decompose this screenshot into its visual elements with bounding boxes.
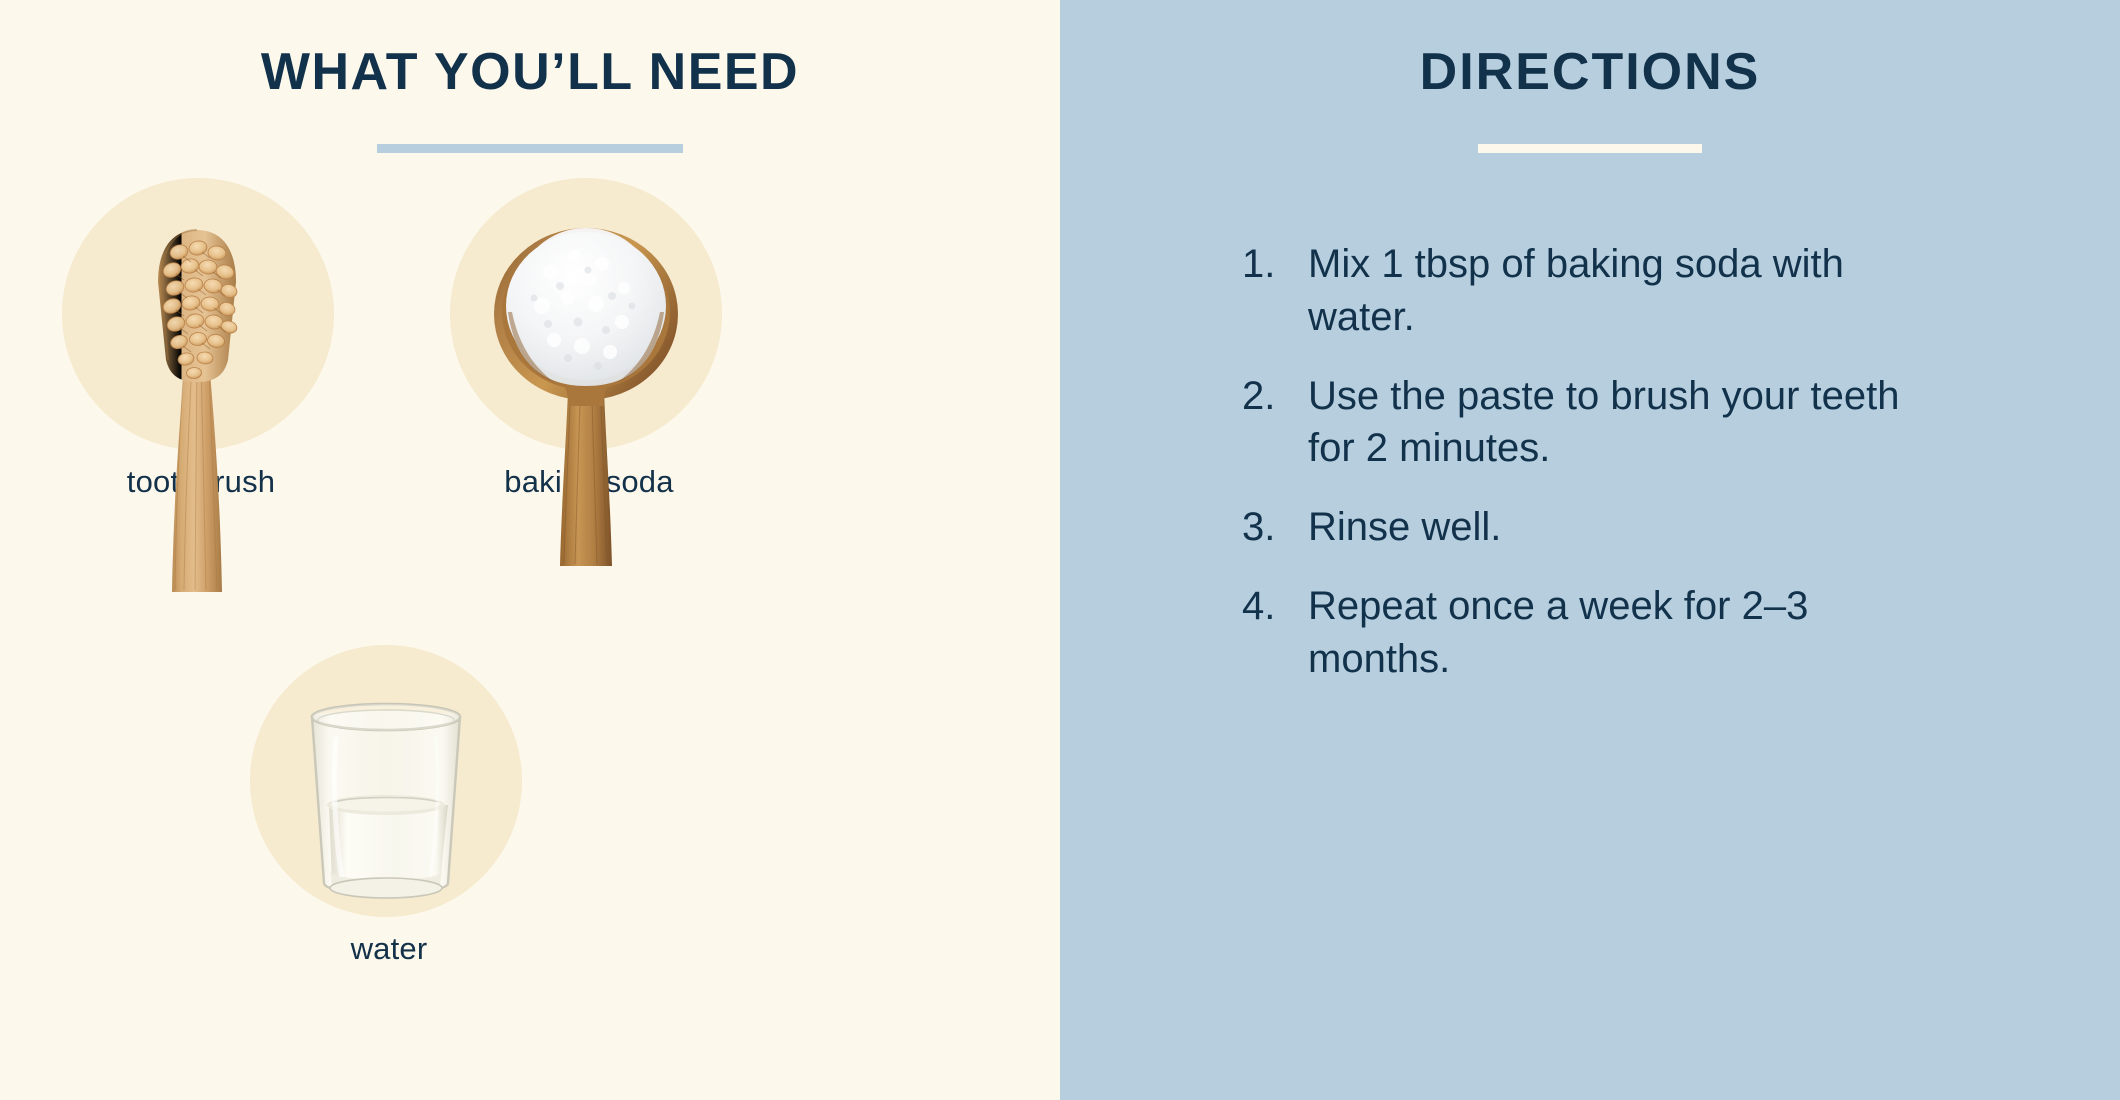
ingredient-toothbrush: toothbrush — [62, 178, 340, 500]
ingredient-disc — [250, 645, 522, 917]
list-item: 4. Repeat once a week for 2–3 months. — [1242, 580, 1902, 686]
step-text: Use the paste to brush your teeth for 2 … — [1308, 370, 1902, 476]
title-underline-right — [1478, 144, 1702, 153]
step-text: Repeat once a week for 2–3 months. — [1308, 580, 1902, 686]
ingredient-label: toothbrush — [62, 464, 340, 500]
list-item: 2. Use the paste to brush your teeth for… — [1242, 370, 1902, 476]
list-item: 3. Rinse well. — [1242, 501, 1902, 554]
ingredient-baking-soda: baking soda — [450, 178, 728, 500]
ingredient-water: water — [250, 645, 528, 967]
step-number: 2. — [1242, 370, 1308, 423]
title-underline-left — [377, 144, 683, 153]
ingredient-disc — [62, 178, 334, 450]
spoon-of-baking-soda-illustration — [450, 178, 722, 450]
directions-panel: DIRECTIONS 1. Mix 1 tbsp of baking soda … — [1060, 0, 2120, 1100]
list-item: 1. Mix 1 tbsp of baking soda with water. — [1242, 238, 1902, 344]
glass-of-water-illustration — [250, 645, 522, 917]
step-text: Mix 1 tbsp of baking soda with water. — [1308, 238, 1902, 344]
what-you-need-panel: WHAT YOU’LL NEED — [0, 0, 1060, 1100]
step-number: 1. — [1242, 238, 1308, 291]
step-text: Rinse well. — [1308, 501, 1501, 554]
toothbrush-illustration — [62, 178, 334, 450]
ingredient-disc — [450, 178, 722, 450]
directions-list: 1. Mix 1 tbsp of baking soda with water.… — [1242, 238, 1902, 712]
ingredient-label: water — [250, 931, 528, 967]
step-number: 4. — [1242, 580, 1308, 633]
ingredient-label: baking soda — [450, 464, 728, 500]
page-title-directions: DIRECTIONS — [1060, 42, 2120, 102]
page-title-what-you-need: WHAT YOU’LL NEED — [0, 42, 1060, 102]
step-number: 3. — [1242, 501, 1308, 554]
infographic-page: WHAT YOU’LL NEED — [0, 0, 2120, 1100]
